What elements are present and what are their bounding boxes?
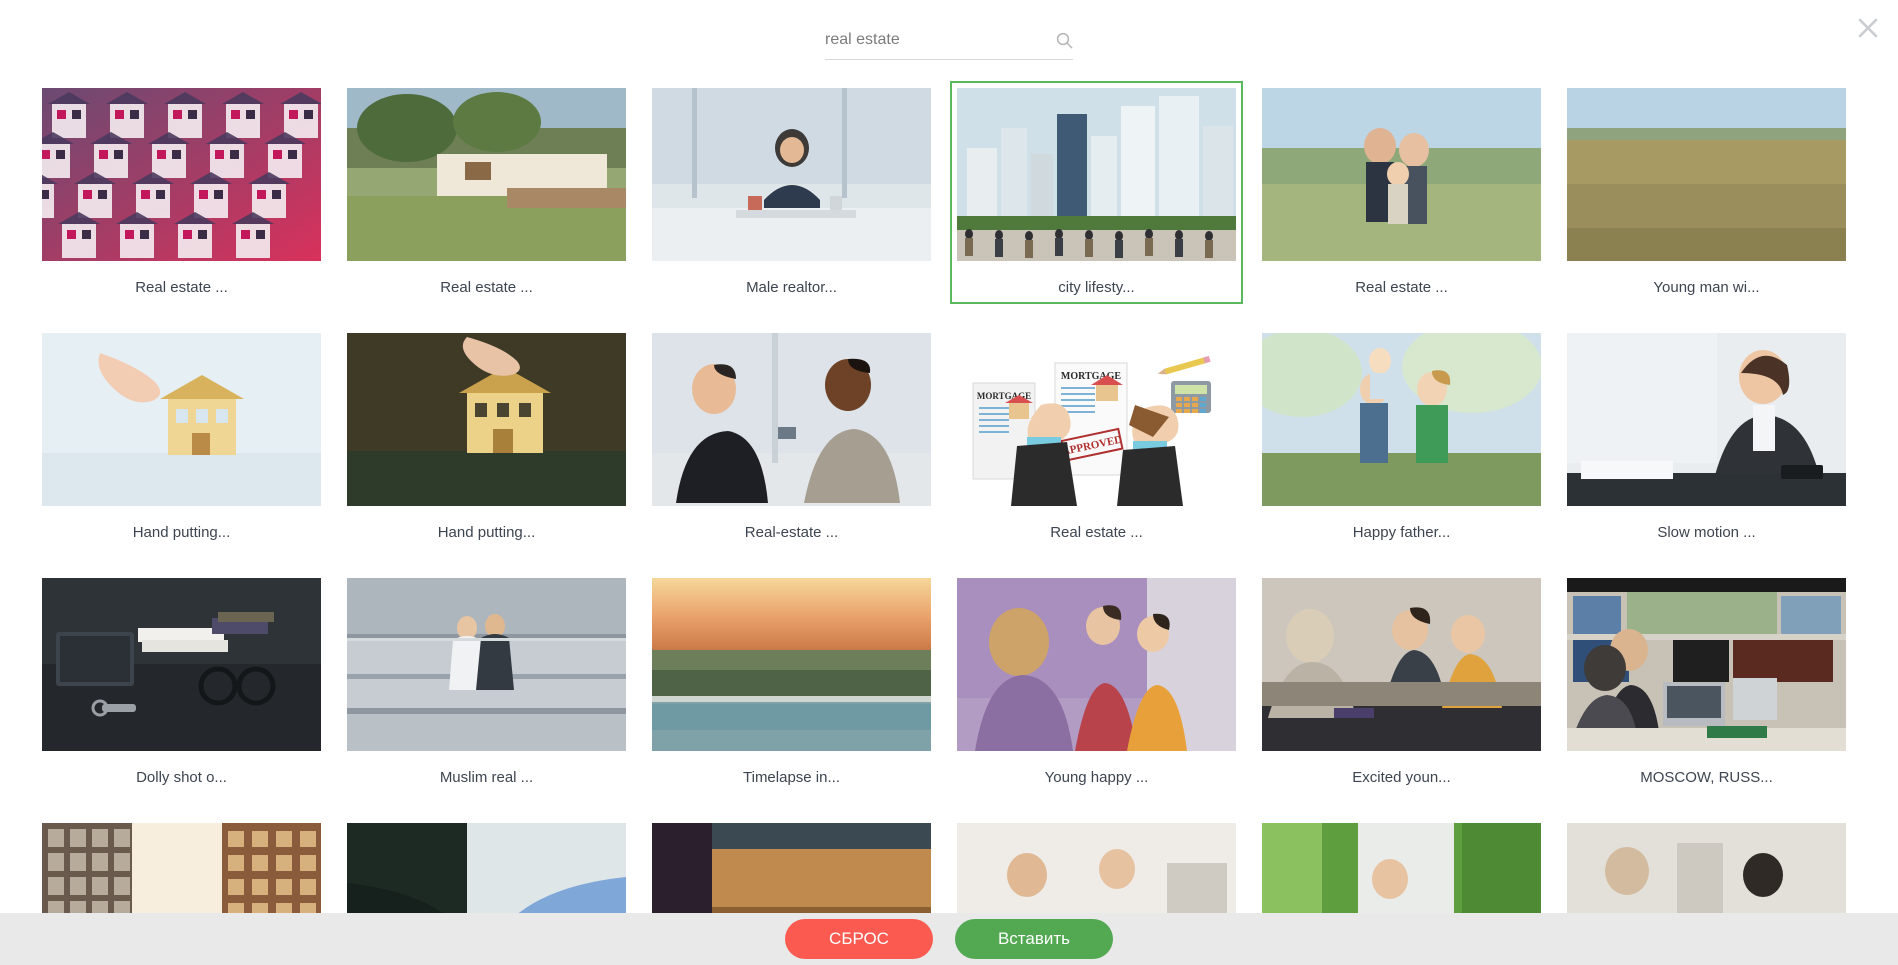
media-caption: city lifesty... — [957, 261, 1236, 297]
media-thumbnail[interactable] — [1567, 333, 1846, 506]
grid-cell: Young happy ... — [957, 578, 1236, 787]
close-button[interactable] — [1848, 8, 1888, 48]
media-card[interactable]: Timelapse in... — [645, 571, 938, 794]
grid-cell: Muslim real ... — [347, 578, 626, 787]
media-card-selected[interactable]: city lifesty... — [950, 81, 1243, 304]
thumbnail-art — [1262, 88, 1541, 261]
search-input[interactable] — [825, 30, 1050, 50]
thumbnail-art — [42, 88, 321, 261]
media-thumbnail[interactable] — [1262, 333, 1541, 506]
media-caption: Young happy ... — [957, 751, 1236, 787]
media-card[interactable]: Real-estate ... — [645, 326, 938, 549]
media-card[interactable]: Happy father... — [1255, 326, 1548, 549]
media-thumbnail[interactable] — [1262, 88, 1541, 261]
media-caption: Real-estate ... — [652, 506, 931, 542]
grid-cell: Hand putting... — [42, 333, 321, 542]
media-card[interactable]: Young man wi... — [1560, 81, 1853, 304]
grid-cell: Male realtor... — [652, 88, 931, 297]
grid-cell: Young man wi... — [1567, 88, 1846, 297]
media-card[interactable]: Real estate ... — [340, 81, 633, 304]
media-caption: Young man wi... — [1567, 261, 1846, 297]
media-caption: Real estate ... — [42, 261, 321, 297]
media-thumbnail[interactable] — [347, 333, 626, 506]
reset-button[interactable]: СБРОС — [785, 919, 933, 959]
media-thumbnail[interactable] — [652, 88, 931, 261]
thumbnail-art — [652, 88, 931, 261]
thumbnail-art — [347, 578, 626, 751]
thumbnail-art: MORTGAGEMORTGAGEAPPROVED — [957, 333, 1236, 506]
media-thumbnail[interactable] — [957, 578, 1236, 751]
grid-cell: MORTGAGEMORTGAGEAPPROVEDReal estate ... — [957, 333, 1236, 542]
grid-cell: Real-estate ... — [652, 333, 931, 542]
thumbnail-art — [42, 578, 321, 751]
media-thumbnail[interactable]: MORTGAGEMORTGAGEAPPROVED — [957, 333, 1236, 506]
grid-cell: Slow motion ... — [1567, 333, 1846, 542]
thumbnail-art — [347, 333, 626, 506]
thumbnail-art — [957, 578, 1236, 751]
media-caption: Slow motion ... — [1567, 506, 1846, 542]
media-thumbnail[interactable] — [42, 88, 321, 261]
media-caption: Hand putting... — [347, 506, 626, 542]
media-caption: Real estate ... — [1262, 261, 1541, 297]
dialog-footer: СБРОС Вставить — [0, 913, 1898, 965]
thumbnail-art — [1567, 578, 1846, 751]
media-thumbnail[interactable] — [347, 88, 626, 261]
media-caption: Timelapse in... — [652, 751, 931, 787]
media-caption: Real estate ... — [957, 506, 1236, 542]
media-thumbnail[interactable] — [652, 578, 931, 751]
grid-cell: MOSCOW, RUSS... — [1567, 578, 1846, 787]
media-caption: Dolly shot o... — [42, 751, 321, 787]
thumbnail-art — [1262, 333, 1541, 506]
grid-cell: Hand putting... — [347, 333, 626, 542]
thumbnail-art — [652, 333, 931, 506]
media-card[interactable]: Dolly shot o... — [35, 571, 328, 794]
media-thumbnail[interactable] — [652, 333, 931, 506]
media-caption: Happy father... — [1262, 506, 1541, 542]
media-card[interactable]: Young happy ... — [950, 571, 1243, 794]
media-thumbnail[interactable] — [957, 88, 1236, 261]
results-grid: Real estate ...Real estate ...Male realt… — [42, 88, 1856, 965]
grid-cell: Timelapse in... — [652, 578, 931, 787]
thumbnail-art — [347, 88, 626, 261]
search-icon[interactable] — [1056, 32, 1073, 49]
media-caption: Real estate ... — [347, 261, 626, 297]
close-icon — [1857, 17, 1879, 39]
media-card[interactable]: MORTGAGEMORTGAGEAPPROVEDReal estate ... — [950, 326, 1243, 549]
media-card[interactable]: Muslim real ... — [340, 571, 633, 794]
thumbnail-art — [957, 88, 1236, 261]
grid-cell: Real estate ... — [1262, 88, 1541, 297]
media-card[interactable]: MOSCOW, RUSS... — [1560, 571, 1853, 794]
grid-cell: Dolly shot o... — [42, 578, 321, 787]
media-card[interactable]: Excited youn... — [1255, 571, 1548, 794]
grid-cell: city lifesty... — [957, 88, 1236, 297]
media-card[interactable]: Real estate ... — [1255, 81, 1548, 304]
grid-cell: Happy father... — [1262, 333, 1541, 542]
media-caption: Muslim real ... — [347, 751, 626, 787]
grid-cell: Real estate ... — [347, 88, 626, 297]
thumbnail-art — [1262, 578, 1541, 751]
media-caption: Excited youn... — [1262, 751, 1541, 787]
grid-cell: Real estate ... — [42, 88, 321, 297]
search-bar — [825, 30, 1073, 60]
media-thumbnail[interactable] — [347, 578, 626, 751]
media-picker-dialog: Real estate ...Real estate ...Male realt… — [0, 0, 1898, 965]
media-thumbnail[interactable] — [1567, 578, 1846, 751]
thumbnail-art — [1567, 333, 1846, 506]
media-card[interactable]: Slow motion ... — [1560, 326, 1853, 549]
thumbnail-art — [652, 578, 931, 751]
media-caption: MOSCOW, RUSS... — [1567, 751, 1846, 787]
thumbnail-art — [42, 333, 321, 506]
media-caption: Male realtor... — [652, 261, 931, 297]
media-card[interactable]: Hand putting... — [35, 326, 328, 549]
media-card[interactable]: Hand putting... — [340, 326, 633, 549]
media-caption: Hand putting... — [42, 506, 321, 542]
thumbnail-art — [1567, 88, 1846, 261]
media-card[interactable]: Real estate ... — [35, 81, 328, 304]
media-thumbnail[interactable] — [42, 578, 321, 751]
media-card[interactable]: Male realtor... — [645, 81, 938, 304]
media-thumbnail[interactable] — [42, 333, 321, 506]
insert-button[interactable]: Вставить — [955, 919, 1113, 959]
media-thumbnail[interactable] — [1262, 578, 1541, 751]
media-thumbnail[interactable] — [1567, 88, 1846, 261]
grid-cell: Excited youn... — [1262, 578, 1541, 787]
